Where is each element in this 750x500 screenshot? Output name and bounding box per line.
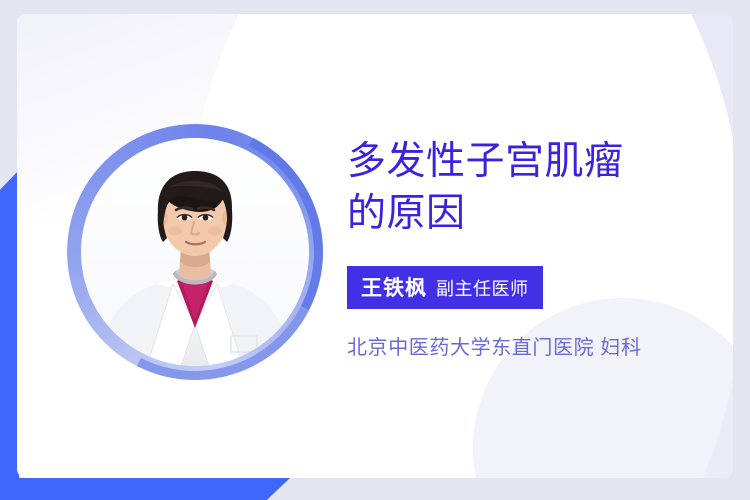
doctor-credential-badge: 王铁枫副主任医师 <box>347 266 543 309</box>
doctor-portrait-illustration <box>81 138 309 366</box>
decorative-bottom-blue-bar <box>0 478 290 500</box>
doctor-affiliation: 北京中医药大学东直门医院 妇科 <box>347 331 733 360</box>
avatar-photo <box>81 138 309 366</box>
doctor-title: 副主任医师 <box>436 279 529 299</box>
text-column: 多发性子宫肌瘤 的原因 王铁枫副主任医师 北京中医药大学东直门医院 妇科 <box>347 136 733 360</box>
avatar <box>67 124 323 380</box>
page-title: 多发性子宫肌瘤 的原因 <box>347 136 733 240</box>
content-card: 多发性子宫肌瘤 的原因 王铁枫副主任医师 北京中医药大学东直门医院 妇科 <box>17 14 733 478</box>
doctor-name: 王铁枫 <box>361 277 427 300</box>
doctor-info-card-screenshot: 多发性子宫肌瘤 的原因 王铁枫副主任医师 北京中医药大学东直门医院 妇科 <box>0 0 750 500</box>
